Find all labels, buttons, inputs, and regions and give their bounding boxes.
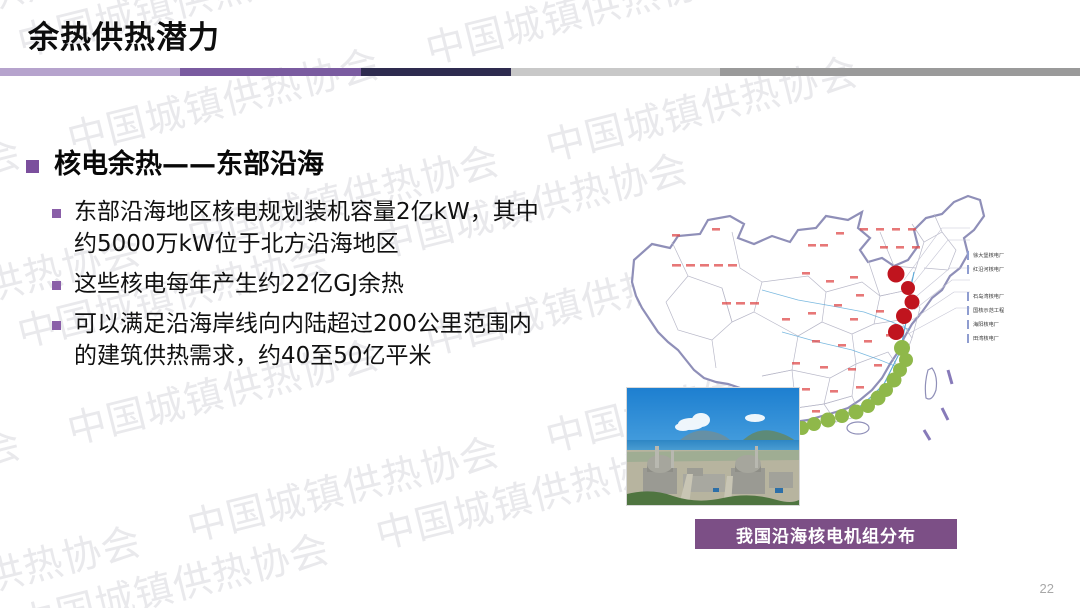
legend-label: 田湾核电厂 xyxy=(973,335,999,342)
legend-item: 田湾核电厂 xyxy=(967,333,1075,344)
legend-item: 红沿河核电厂 xyxy=(967,264,1075,275)
bullet-list: 核电余热——东部沿海 东部沿海地区核电规划装机容量2亿kW，其中约5000万kW… xyxy=(26,148,606,380)
divider-segment-medium-purple xyxy=(180,68,360,76)
legend-item: 海阳核电厂 xyxy=(967,319,1075,330)
legend-label: 徐大堡核电厂 xyxy=(973,252,1004,259)
plant-marker-north xyxy=(888,266,905,283)
bullet-square-icon xyxy=(52,209,61,218)
bullet-square-icon xyxy=(52,281,61,290)
bullet-level2: 东部沿海地区核电规划装机容量2亿kW，其中约5000万kW位于北方沿海地区 xyxy=(26,196,606,261)
legend-label: 石岛湾核电厂 xyxy=(973,293,1004,300)
hainan-island xyxy=(847,422,869,434)
legend-tick-icon xyxy=(967,292,969,301)
divider-segment-medium-gray xyxy=(720,68,1080,76)
legend-label: 红沿河核电厂 xyxy=(973,266,1004,273)
legend-tick-icon xyxy=(967,251,969,260)
plant-marker-north xyxy=(888,324,904,340)
legend-tick-icon xyxy=(967,306,969,315)
bullet-level1: 核电余热——东部沿海 xyxy=(26,148,606,182)
bullet-level2: 这些核电每年产生约22亿GJ余热 xyxy=(26,268,606,301)
plant-marker-south xyxy=(821,413,836,428)
plant-marker-north xyxy=(905,295,920,310)
slide-root: 中国城镇供热协会 中国城镇供热协会 中国城镇供热协会 中国城镇供热协会 中国城镇… xyxy=(0,0,1080,608)
legend-tick-icon xyxy=(967,265,969,274)
legend-spacer xyxy=(967,278,1075,291)
figure-caption-text: 我国沿海核电机组分布 xyxy=(736,522,916,547)
legend-tick-icon xyxy=(967,334,969,343)
divider-segment-light-purple xyxy=(0,68,180,76)
plant-marker-south xyxy=(807,417,821,431)
legend-tick-icon xyxy=(967,320,969,329)
plant-marker-south xyxy=(849,405,864,420)
plant-marker-north xyxy=(896,308,912,324)
bullet-square-icon xyxy=(52,321,61,330)
bullet-square-icon xyxy=(26,160,39,173)
bullet-level2-label: 可以满足沿海岸线向内陆超过200公里范围内的建筑供热需求，约40至50亿平米 xyxy=(74,308,544,373)
taiwan-island xyxy=(925,368,936,399)
legend-item: 石岛湾核电厂 xyxy=(967,291,1075,302)
bullet-level1-label: 核电余热——东部沿海 xyxy=(54,148,324,182)
title-area: 余热供热潜力 xyxy=(0,0,1080,72)
legend-item: 徐大堡核电厂 xyxy=(967,250,1075,261)
plant-marker-north xyxy=(901,281,915,295)
page-number: 22 xyxy=(1040,581,1054,596)
divider-segment-light-gray xyxy=(511,68,721,76)
bullet-level2-label: 这些核电每年产生约22亿GJ余热 xyxy=(74,268,404,301)
legend-item: 国核示范工程 xyxy=(967,305,1075,316)
nuclear-plant-photo-svg xyxy=(627,388,799,505)
bullet-level2: 可以满足沿海岸线向内陆超过200公里范围内的建筑供热需求，约40至50亿平米 xyxy=(26,308,606,373)
nuclear-plant-photo xyxy=(626,387,800,506)
divider-bar xyxy=(0,68,1080,76)
legend-label: 海阳核电厂 xyxy=(973,321,999,328)
slide-content: 核电余热——东部沿海 东部沿海地区核电规划装机容量2亿kW，其中约5000万kW… xyxy=(0,76,1080,608)
page-title: 余热供热潜力 xyxy=(28,12,220,57)
plant-marker-south xyxy=(835,409,849,423)
legend-label: 国核示范工程 xyxy=(973,307,1004,314)
map-legend: 徐大堡核电厂 红沿河核电厂 石岛湾核电厂 国核示范工程 海阳核电厂 xyxy=(967,250,1075,347)
figure-nuclear-map: 徐大堡核电厂 红沿河核电厂 石岛湾核电厂 国核示范工程 海阳核电厂 xyxy=(612,172,1072,572)
bullet-level2-label: 东部沿海地区核电规划装机容量2亿kW，其中约5000万kW位于北方沿海地区 xyxy=(74,196,544,261)
divider-segment-dark-navy xyxy=(361,68,511,76)
figure-caption-bar: 我国沿海核电机组分布 xyxy=(695,519,957,549)
